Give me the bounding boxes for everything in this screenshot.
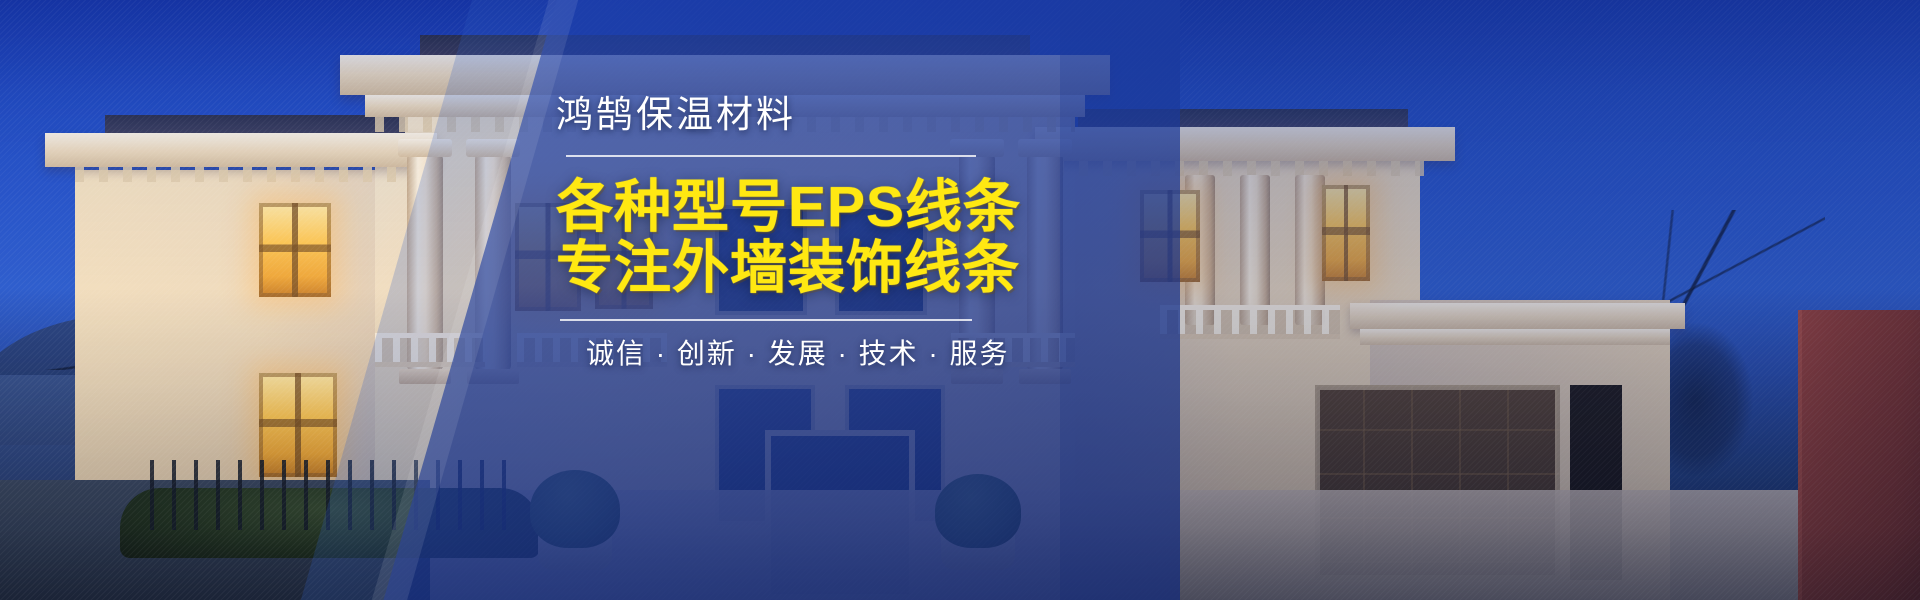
divider-bottom [560,319,972,321]
banner-text-block: 鸿鹄保温材料 各种型号EPS线条 专注外墙装饰线条 诚信 · 创新 · 发展 ·… [556,96,1026,370]
shrub-right [935,474,1021,548]
right-column-3 [1295,175,1325,325]
right-column-2 [1240,175,1270,325]
lit-window-right-2 [1322,185,1370,281]
lit-window-right-1 [1140,190,1200,282]
cornice-left [45,133,437,167]
balustrade-1 [375,333,485,367]
divider-top [566,155,976,157]
iron-fence [150,460,510,530]
dentil-row-left [75,167,405,182]
tagline: 诚信 · 创新 · 发展 · 技术 · 服务 [556,339,1026,370]
headline-line-2: 专注外墙装饰线条 [556,238,1026,299]
headline-line-1: 各种型号EPS线条 [556,177,1026,238]
cornice-right [1035,127,1455,161]
shrub-left [530,470,620,548]
cornice-garage [1350,303,1685,329]
cornice-center [340,55,1110,95]
lit-window-left-upper [259,203,331,297]
brand-name: 鸿鹄保温材料 [556,96,1026,133]
red-wall [1798,310,1920,600]
cornice-garage-lower [1360,329,1670,345]
headline-group: 各种型号EPS线条 专注外墙装饰线条 [556,177,1026,299]
dentil-row-right [1055,161,1425,176]
hero-banner: 鸿鹄保温材料 各种型号EPS线条 专注外墙装饰线条 诚信 · 创新 · 发展 ·… [0,0,1920,600]
balustrade-right [1160,305,1340,339]
